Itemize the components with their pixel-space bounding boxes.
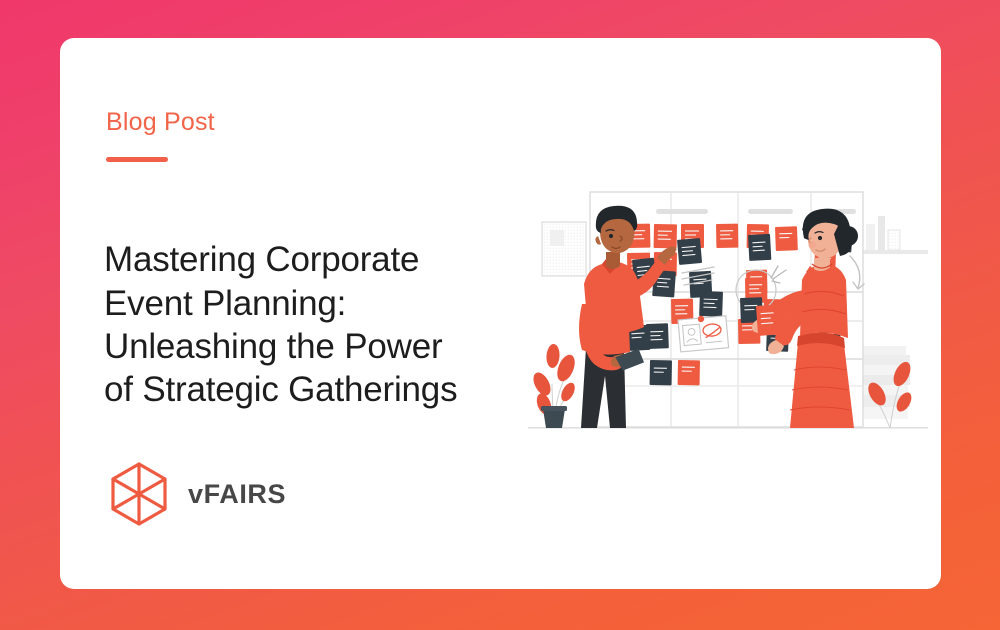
poster-canvas: Blog Post Mastering Corporate Event Plan…	[0, 0, 1000, 630]
brand-logo: vFAIRS	[104, 459, 286, 529]
pinned-photo-card	[678, 314, 729, 352]
hero-illustration	[528, 178, 928, 448]
brand-wordmark: vFAIRS	[188, 481, 286, 508]
eyebrow-underline-rule	[106, 157, 168, 162]
page-title: Mastering Corporate Event Planning: Unle…	[104, 238, 544, 411]
eyebrow-label: Blog Post	[106, 110, 215, 135]
window-decor	[542, 222, 586, 276]
hexagon-spokes-logo-icon	[104, 459, 174, 529]
content-card: Blog Post Mastering Corporate Event Plan…	[60, 38, 941, 589]
